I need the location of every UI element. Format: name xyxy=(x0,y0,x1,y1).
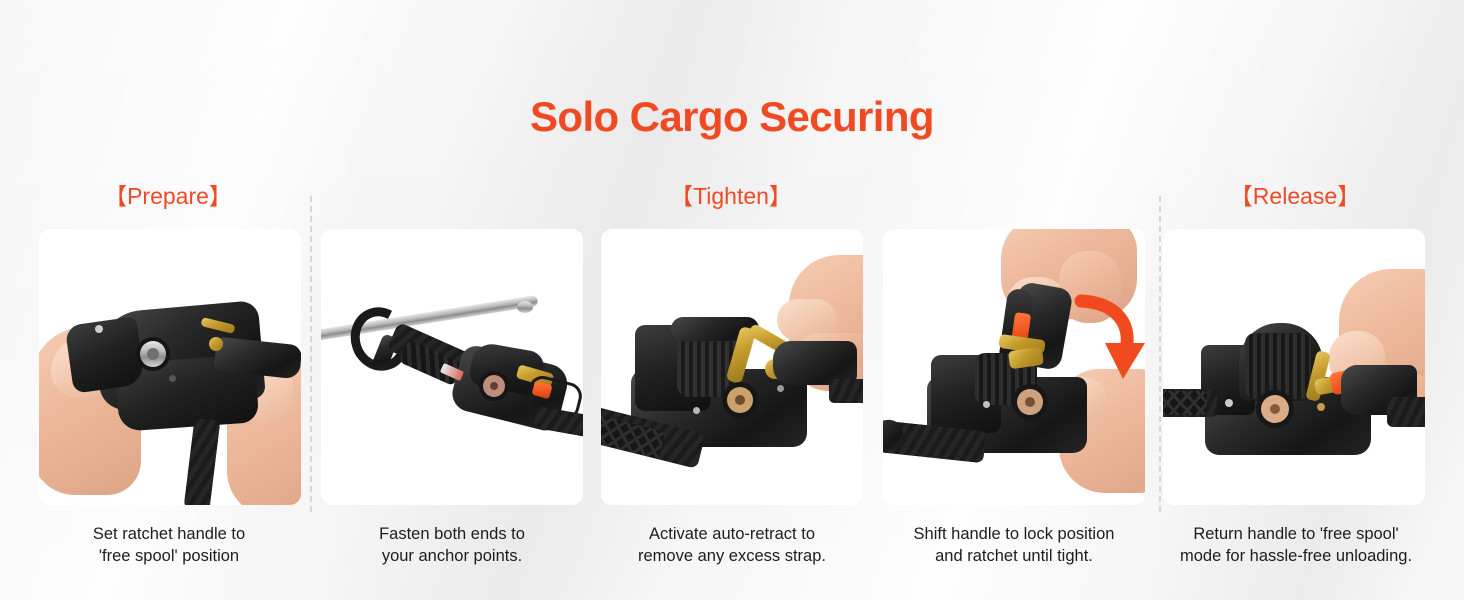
section-header-tighten: 【Tighten】 xyxy=(670,177,792,211)
product-photo-5 xyxy=(1163,229,1425,505)
product-photo-4 xyxy=(883,229,1145,505)
page-title: Solo Cargo Securing xyxy=(0,93,1464,141)
step-caption-5: Return handle to 'free spool' mode for h… xyxy=(1146,523,1446,567)
step-image-panel-1 xyxy=(39,229,301,505)
product-photo-3 xyxy=(601,229,863,505)
section-header-prepare: 【Prepare】 xyxy=(104,177,232,211)
step-image-panel-2 xyxy=(321,229,583,505)
step-image-panel-3 xyxy=(601,229,863,505)
step-caption-2: Fasten both ends to your anchor points. xyxy=(302,523,602,567)
product-photo-1 xyxy=(39,229,301,505)
step-image-panel-4 xyxy=(883,229,1145,505)
section-divider-1 xyxy=(310,196,312,512)
step-caption-3: Activate auto-retract to remove any exce… xyxy=(582,523,882,567)
section-header-release: 【Release】 xyxy=(1230,177,1360,211)
section-divider-2 xyxy=(1159,196,1161,512)
step-caption-1: Set ratchet handle to 'free spool' posit… xyxy=(19,523,319,567)
direction-arrow-icon xyxy=(1067,293,1145,383)
step-image-panel-5 xyxy=(1163,229,1425,505)
product-photo-2 xyxy=(321,229,583,505)
infographic-page: Solo Cargo Securing 【Prepare】 【Tighten】 … xyxy=(0,0,1464,600)
step-caption-4: Shift handle to lock position and ratche… xyxy=(864,523,1164,567)
